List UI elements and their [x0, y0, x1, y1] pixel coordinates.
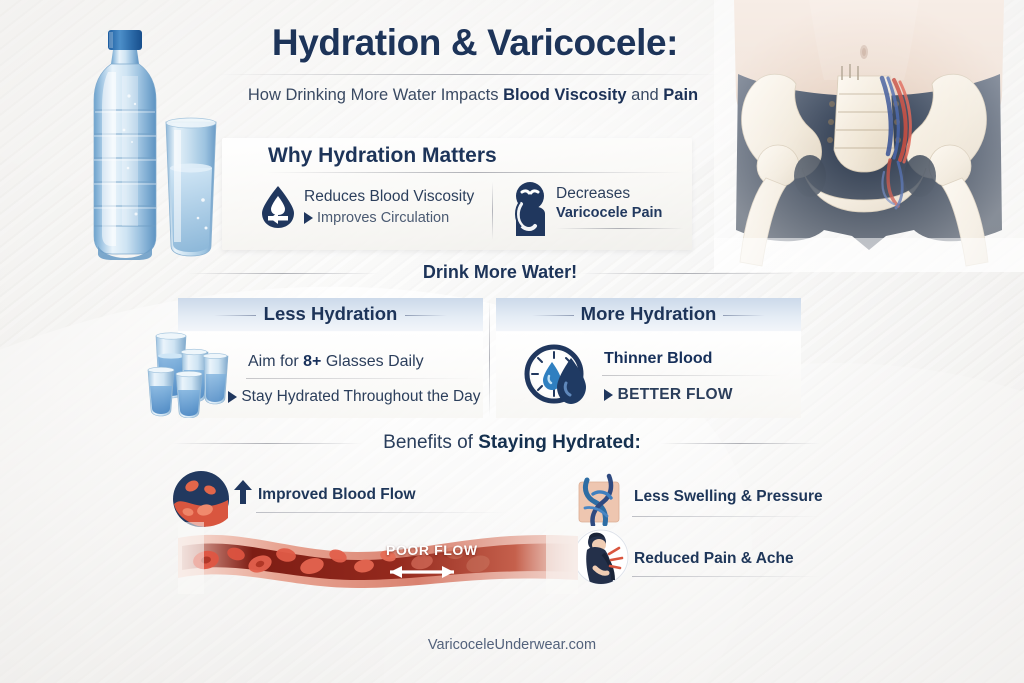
- page-subtitle: How Drinking More Water Impacts Blood Vi…: [200, 86, 746, 105]
- up-arrow-icon: [234, 480, 252, 504]
- blood-cells-circle-icon: [172, 470, 230, 528]
- benefits-heading: Benefits of Staying Hydrated:: [383, 432, 641, 454]
- why-item-2-underline: [556, 228, 684, 229]
- more-hydration-separator: [602, 375, 782, 376]
- pelvis-anatomy-illustration: [714, 0, 1024, 272]
- more-hydration-line2: BETTER FLOW: [604, 386, 733, 404]
- less-hydration-line1-bold: 8+: [303, 353, 321, 370]
- less-hydration-line2: Stay Hydrated Throughout the Day: [228, 388, 481, 406]
- benefit-item-1-label: Improved Blood Flow: [258, 486, 416, 504]
- banner-label: Drink More Water!: [409, 262, 591, 283]
- benefits-heading-bold: Staying Hydrated:: [478, 432, 641, 453]
- water-bottle-and-glass-illustration: [72, 18, 222, 270]
- why-item-1-line1: Reduces Blood Viscosity: [304, 188, 474, 206]
- bullet-triangle-icon: [228, 391, 237, 403]
- why-item-1-line2-text: Improves Circulation: [317, 210, 449, 226]
- why-item-1: Reduces Blood Viscosity Improves Circula…: [304, 188, 474, 226]
- less-hydration-dash-right: [405, 315, 447, 316]
- bullet-triangle-icon: [304, 212, 313, 224]
- varicose-vein-icon: [573, 468, 629, 526]
- subtitle-part-2: and: [627, 86, 664, 104]
- why-item-2: Decreases Varicocele Pain: [556, 185, 662, 221]
- why-item-1-line2: Improves Circulation: [304, 210, 474, 226]
- benefit-item-2-underline: [632, 516, 820, 517]
- poor-flow-label: POOR FLOW: [386, 542, 478, 558]
- footer-website: VaricoceleUnderwear.com: [0, 637, 1024, 653]
- why-hydration-title: Why Hydration Matters: [268, 144, 497, 168]
- title-divider: [218, 74, 718, 75]
- benefits-rule-right: [660, 443, 820, 444]
- infographic-canvas: Hydration & Varicocele: How Drinking Mor…: [0, 0, 1024, 683]
- why-hydration-divider: [266, 172, 684, 173]
- benefit-item-3-underline: [632, 576, 820, 577]
- why-item-2-line2-text: Varicocele Pain: [556, 205, 662, 221]
- person-back-pain-icon: [573, 528, 629, 586]
- why-item-2-line1: Decreases: [556, 185, 662, 203]
- subtitle-bold-blood-viscosity: Blood Viscosity: [503, 86, 626, 104]
- less-hydration-dash-left: [214, 315, 256, 316]
- water-droplet-arrow-icon: [258, 184, 298, 230]
- page-title: Hydration & Varicocele:: [215, 22, 735, 64]
- less-hydration-heading: Less Hydration: [178, 303, 483, 325]
- more-hydration-heading: More Hydration: [496, 303, 801, 325]
- benefits-rule-left: [172, 443, 362, 444]
- drink-more-water-banner: Drink More Water!: [180, 262, 820, 288]
- why-item-2-line2: Varicocele Pain: [556, 205, 662, 221]
- less-hydration-line1: Aim for 8+ Glasses Daily: [248, 353, 424, 371]
- person-in-pain-icon: [508, 180, 554, 238]
- less-hydration-line1-post: Glasses Daily: [321, 353, 423, 370]
- blood-vessel-icon: POOR FLOW: [178, 522, 578, 594]
- benefit-item-3-label: Reduced Pain & Ache: [634, 550, 794, 568]
- less-hydration-header: Less Hydration: [178, 298, 483, 332]
- more-hydration-dash-right: [723, 315, 765, 316]
- why-hydration-column-divider: [492, 182, 493, 240]
- water-glasses-icon: [142, 330, 234, 418]
- subtitle-bold-pain: Pain: [663, 86, 698, 104]
- less-hydration-separator: [246, 378, 478, 379]
- benefit-item-1-underline: [256, 512, 506, 513]
- subtitle-part-1: How Drinking More Water Impacts: [248, 86, 503, 104]
- gauge-droplet-icon: [520, 336, 596, 412]
- more-hydration-line1-text: Thinner Blood: [604, 350, 712, 367]
- comparison-divider: [489, 300, 490, 416]
- more-hydration-line2-text: BETTER FLOW: [618, 386, 733, 403]
- more-hydration-line1: Thinner Blood: [604, 350, 712, 368]
- benefits-heading-pre: Benefits of: [383, 432, 478, 453]
- bullet-triangle-icon: [604, 389, 613, 401]
- more-hydration-header: More Hydration: [496, 298, 801, 332]
- benefit-item-2-label: Less Swelling & Pressure: [634, 488, 823, 506]
- less-hydration-line1-pre: Aim for: [248, 353, 303, 370]
- less-hydration-line2-text: Stay Hydrated Throughout the Day: [241, 388, 480, 405]
- more-hydration-dash-left: [532, 315, 574, 316]
